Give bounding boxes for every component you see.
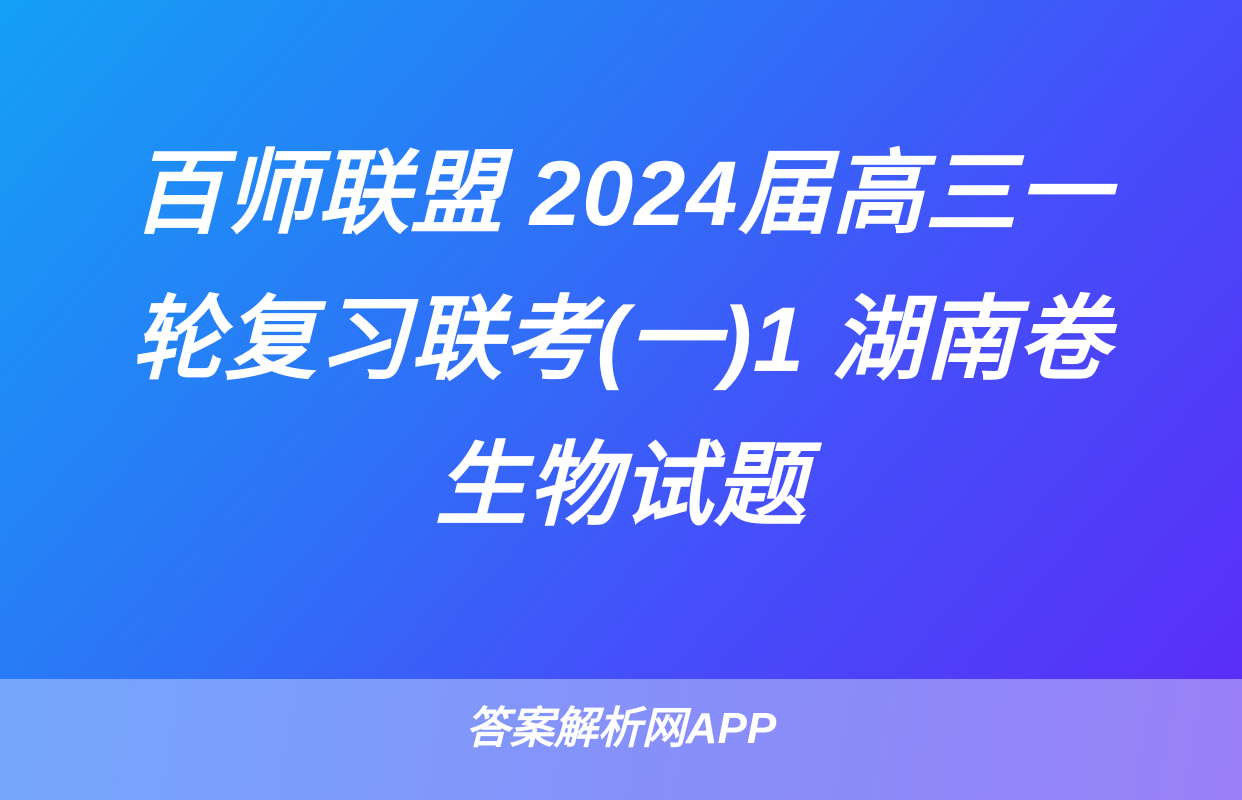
app-watermark-label: 答案解析网APP [466, 705, 776, 753]
poster-title-line-2: 轮复习联考(一)1 湖南卷 [95, 267, 1147, 413]
poster-title-line-3: 生物试题 [95, 413, 1147, 559]
poster-container: 百师联盟 2024届高三一 轮复习联考(一)1 湖南卷 生物试题 答案解析网AP… [0, 0, 1242, 800]
poster-title-line-1: 百师联盟 2024届高三一 [95, 121, 1147, 267]
poster-title-block: 百师联盟 2024届高三一 轮复习联考(一)1 湖南卷 生物试题 [71, 121, 1171, 559]
hero-panel: 百师联盟 2024届高三一 轮复习联考(一)1 湖南卷 生物试题 [0, 0, 1242, 679]
footer-band: 答案解析网APP [0, 679, 1242, 800]
